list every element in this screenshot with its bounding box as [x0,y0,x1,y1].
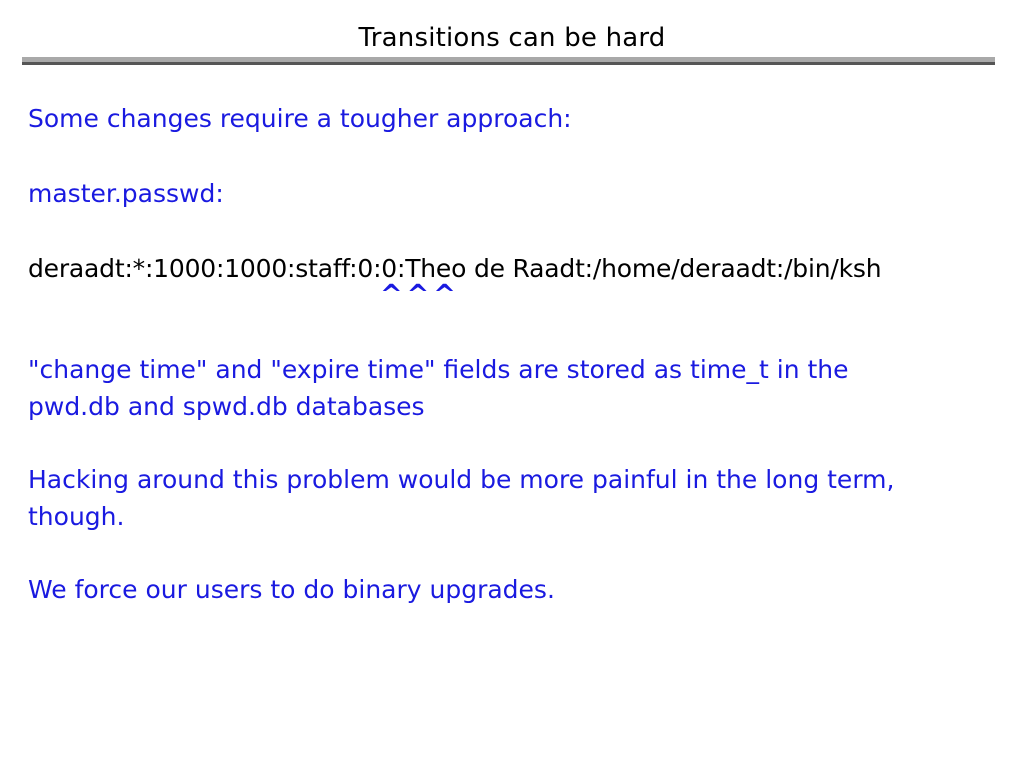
spacer [28,137,1008,175]
title-divider [22,57,995,65]
body-para-fields: "change time" and "expire time" fields a… [28,351,1008,425]
body-line-filename: master.passwd: [28,175,1008,212]
presentation-slide: Transitions can be hard Some changes req… [0,0,1024,768]
body-line-passwd-entry: deraadt:*:1000:1000:staff:0:0:Theo de Ra… [28,250,1008,287]
body-para-hacking: Hacking around this problem would be mor… [28,461,1008,535]
body-para-upgrades: We force our users to do binary upgrades… [28,571,1008,608]
spacer [28,425,1008,461]
caret-marks: ^^^ [380,283,460,307]
spacer [28,535,1008,571]
divider-shadow [22,62,995,65]
spacer [28,311,1008,351]
spacer [28,212,1008,250]
slide-body: Some changes require a tougher approach:… [28,100,1008,608]
caret-annotation-row: ^^^ [28,287,1008,311]
body-line-intro: Some changes require a tougher approach: [28,100,1008,137]
slide-title: Transitions can be hard [0,22,1024,54]
